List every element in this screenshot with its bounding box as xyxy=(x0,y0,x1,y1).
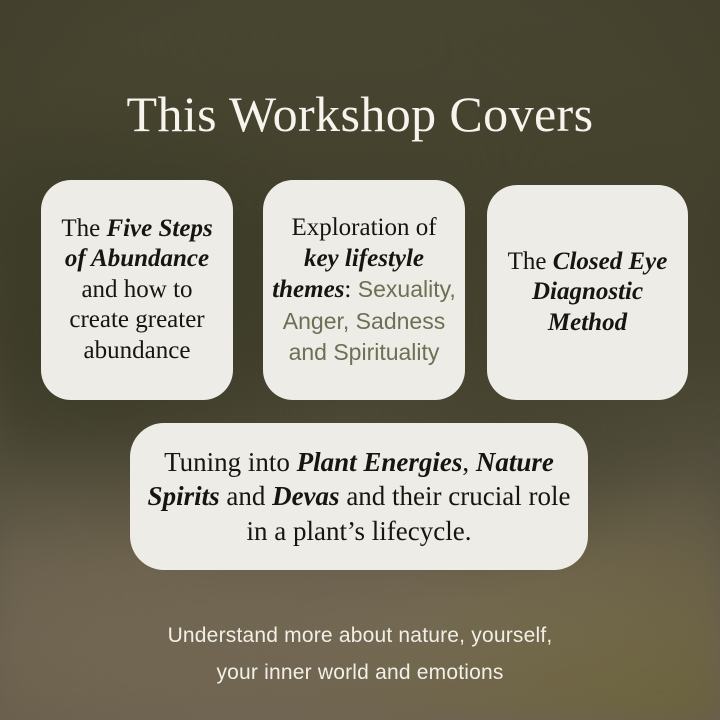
workshop-poster: This Workshop Covers The Five Steps of A… xyxy=(0,0,720,720)
card-closed-eye-diagnostic-method: The Closed Eye Diagnostic Method xyxy=(487,185,688,400)
card-2-segment-1: Exploration of xyxy=(291,214,436,241)
card-4-segment-3: , xyxy=(462,447,476,477)
card-4-segment-5: and xyxy=(220,481,272,511)
card-text: Exploration of key lifestyle themes: Sex… xyxy=(263,212,465,368)
card-1-segment-1: The xyxy=(61,215,106,242)
card-plant-energies-nature-spirits-devas: Tuning into Plant Energies, Nature Spiri… xyxy=(130,423,588,570)
footer-line-1: Understand more about nature, yourself, xyxy=(0,618,720,655)
footer-line-2: your inner world and emotions xyxy=(0,655,720,692)
card-text: Tuning into Plant Energies, Nature Spiri… xyxy=(130,445,588,549)
card-text: The Closed Eye Diagnostic Method xyxy=(487,247,688,339)
card-4-segment-1: Tuning into xyxy=(164,447,297,477)
card-five-steps-of-abundance: The Five Steps of Abundance and how to c… xyxy=(41,180,233,400)
card-4-segment-6: Devas xyxy=(272,481,339,511)
page-title: This Workshop Covers xyxy=(0,88,720,141)
card-3-segment-2: Closed Eye Diagnostic Method xyxy=(532,248,667,336)
poster-content: This Workshop Covers The Five Steps of A… xyxy=(0,0,720,720)
card-text: The Five Steps of Abundance and how to c… xyxy=(41,214,233,367)
card-3-segment-1: The xyxy=(508,248,553,275)
card-1-segment-3: and how to create greater abundance xyxy=(69,276,204,364)
card-key-lifestyle-themes: Exploration of key lifestyle themes: Sex… xyxy=(263,180,465,400)
footer-tagline: Understand more about nature, yourself, … xyxy=(0,618,720,692)
card-4-segment-2: Plant Energies xyxy=(297,447,463,477)
